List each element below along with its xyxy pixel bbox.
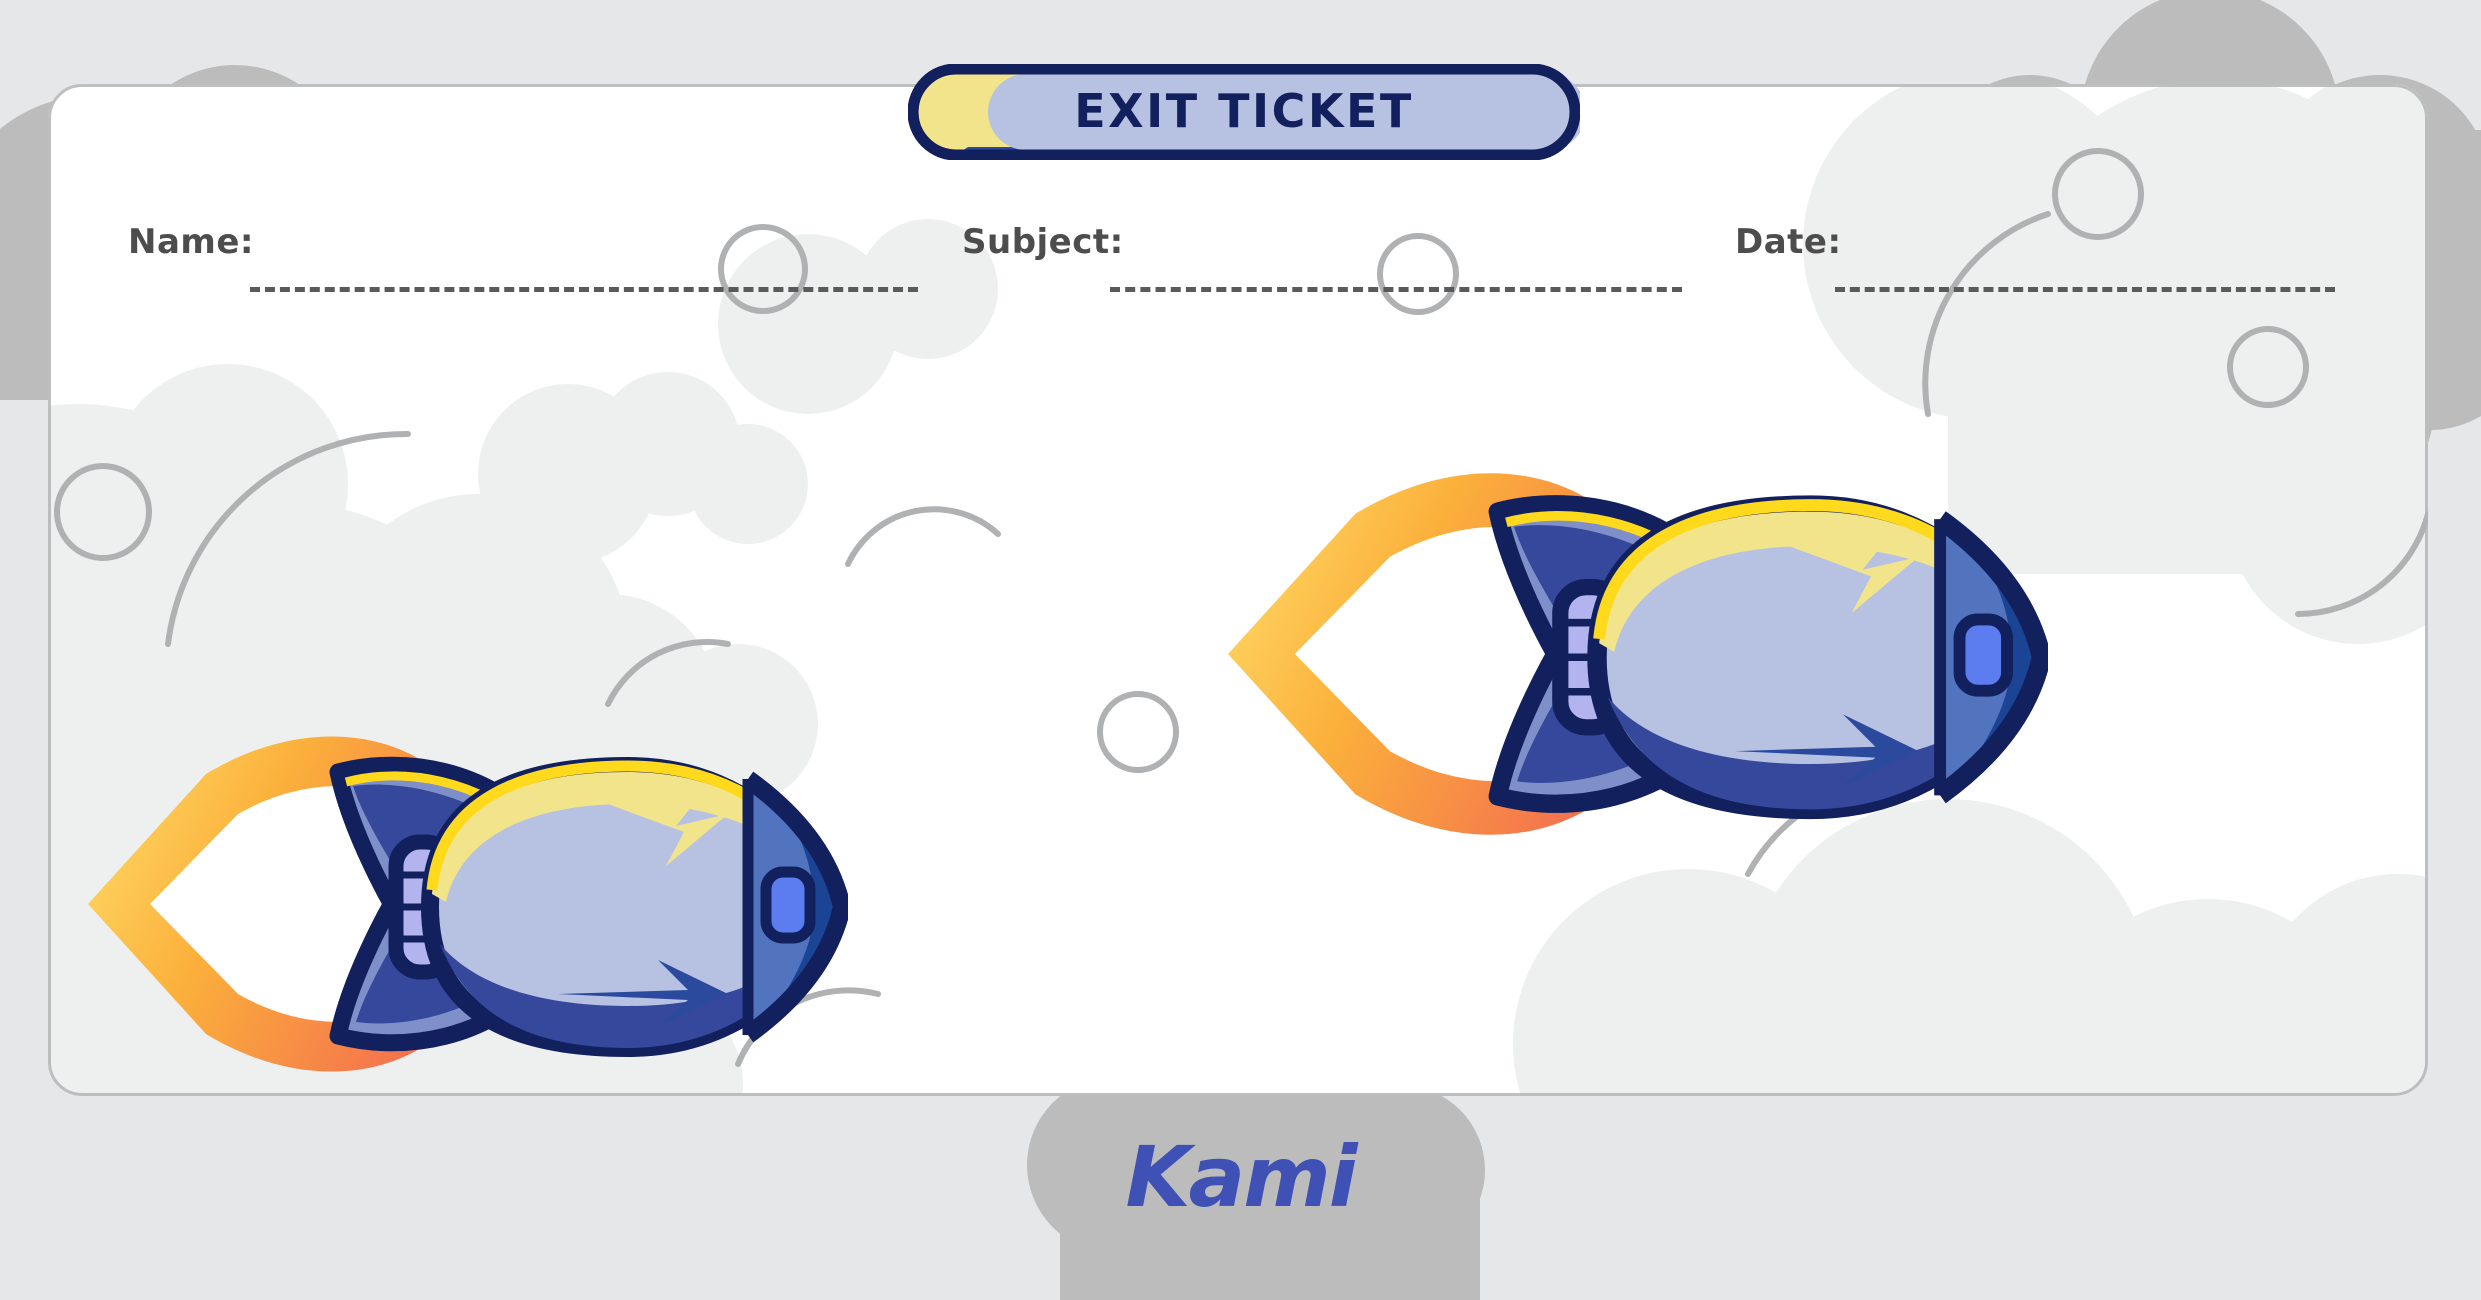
name-field-label: Name: xyxy=(128,222,254,262)
subject-field-label: Subject: xyxy=(962,222,1124,262)
date-field-line[interactable] xyxy=(1835,287,2335,292)
kami-logo: Kami xyxy=(0,1128,2481,1226)
subject-field-line[interactable] xyxy=(1110,287,1682,292)
rocket-illustration-right xyxy=(1228,384,2048,924)
worksheet-page: Name: Subject: Date: EXIT TICKET Kami xyxy=(0,0,2481,1300)
name-field[interactable]: Name: xyxy=(128,222,918,292)
rocket-illustration-left xyxy=(88,654,848,1096)
subject-field[interactable]: Subject: xyxy=(962,222,1682,292)
date-field-label: Date: xyxy=(1735,222,1842,262)
exit-ticket-banner: EXIT TICKET xyxy=(908,64,1580,160)
exit-ticket-title: EXIT TICKET xyxy=(908,64,1580,160)
date-field[interactable]: Date: xyxy=(1735,222,2335,292)
name-field-line[interactable] xyxy=(250,287,918,292)
